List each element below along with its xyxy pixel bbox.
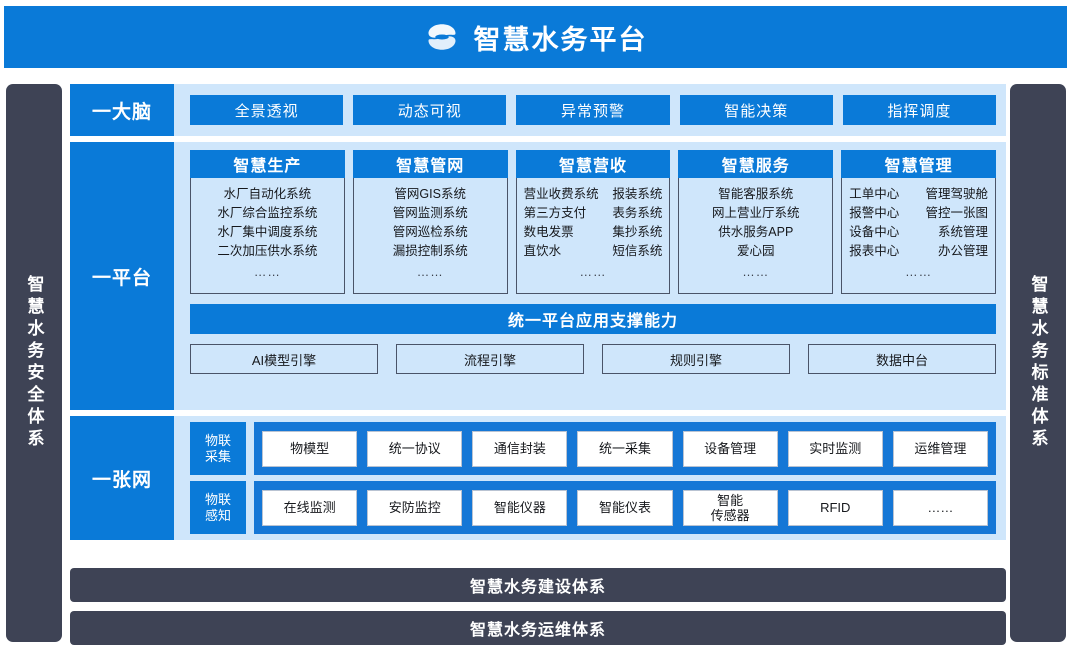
engine-chip-rule[interactable]: 规则引擎 — [602, 344, 790, 374]
network-line-iot-collection: 物联 采集 物模型 统一协议 通信封装 统一采集 设备管理 实时监测 运维管理 — [190, 422, 996, 475]
brain-stage-label-text: 一大脑 — [92, 97, 152, 124]
left-pillar-security-system: 智慧水务安全体系 — [6, 84, 62, 642]
brain-row: 一大脑 全景透视 动态可视 异常预警 智能决策 指挥调度 — [70, 84, 1006, 136]
engine-chip-process[interactable]: 流程引擎 — [396, 344, 584, 374]
network-body: 物联 采集 物模型 统一协议 通信封装 统一采集 设备管理 实时监测 运维管理 — [174, 416, 1006, 540]
panel-ellipsis: …… — [742, 263, 769, 282]
left-pillar-label: 智慧水务安全体系 — [26, 275, 43, 451]
panel-item: 设备中心 — [849, 223, 899, 242]
panel-title: 智慧管网 — [353, 150, 508, 178]
network-tag-line1: 物联 — [205, 433, 231, 448]
panel-item-row: 直饮水 短信系统 — [521, 242, 666, 261]
network-tag-line1: 物联 — [205, 492, 231, 507]
net-chip-thing-model[interactable]: 物模型 — [262, 431, 357, 467]
net-chip-ellipsis[interactable]: …… — [893, 490, 988, 526]
brain-chip-smart-decision[interactable]: 智能决策 — [680, 95, 833, 125]
panel-item: 管理驾驶舱 — [925, 185, 988, 204]
panel-item: 直饮水 — [524, 242, 562, 261]
panel-item: 水厂集中调度系统 — [217, 223, 317, 242]
panel-smart-pipe-network[interactable]: 智慧管网 管网GIS系统 管网监测系统 管网巡检系统 漏损控制系统 …… — [353, 150, 508, 294]
network-tag-iot-collection: 物联 采集 — [190, 422, 246, 475]
panel-smart-service[interactable]: 智慧服务 智能客服系统 网上营业厅系统 供水服务APP 爱心园 …… — [678, 150, 833, 294]
app-header: 智慧水务平台 — [4, 6, 1067, 68]
engine-chip-ai-model[interactable]: AI模型引擎 — [190, 344, 378, 374]
right-pillar-label: 智慧水务标准体系 — [1030, 275, 1047, 451]
panel-ellipsis: …… — [905, 263, 932, 282]
page-title: 智慧水务平台 — [474, 18, 648, 57]
net-chip-rfid[interactable]: RFID — [788, 490, 883, 526]
panel-item: 供水服务APP — [718, 223, 793, 242]
panel-item: 水厂自动化系统 — [224, 185, 312, 204]
panel-item: 报表中心 — [849, 242, 899, 261]
network-tag-iot-sensing: 物联 感知 — [190, 481, 246, 534]
brain-chip-command-dispatch[interactable]: 指挥调度 — [843, 95, 996, 125]
net-chip-device-management[interactable]: 设备管理 — [683, 431, 778, 467]
platform-body: 智慧生产 水厂自动化系统 水厂综合监控系统 水厂集中调度系统 二次加压供水系统 … — [174, 142, 1006, 410]
panel-item-row: 数电发票 集抄系统 — [521, 223, 666, 242]
panel-item-row: 报表中心 办公管理 — [846, 242, 991, 261]
panel-title: 智慧营收 — [516, 150, 671, 178]
platform-stage-label: 一平台 — [70, 142, 174, 410]
water-leaf-logo-icon — [424, 19, 460, 55]
panel-title: 智慧生产 — [190, 150, 345, 178]
panel-body: 水厂自动化系统 水厂综合监控系统 水厂集中调度系统 二次加压供水系统 …… — [190, 178, 345, 294]
brain-items: 全景透视 动态可视 异常预警 智能决策 指挥调度 — [174, 84, 1006, 136]
panel-body: 工单中心 管理驾驶舱 报警中心 管控一张图 设备中心 系统管理 报表中心 — [841, 178, 996, 294]
panel-item: 报警中心 — [849, 204, 899, 223]
net-chip-smart-meter[interactable]: 智能仪表 — [577, 490, 672, 526]
network-tag-line2: 采集 — [205, 449, 231, 464]
platform-stage-label-text: 一平台 — [92, 263, 152, 290]
panel-item: 管网巡检系统 — [393, 223, 468, 242]
brain-chip-panoramic[interactable]: 全景透视 — [190, 95, 343, 125]
panel-item-row: 设备中心 系统管理 — [846, 223, 991, 242]
panel-item-row: 营业收费系统 报装系统 — [521, 185, 666, 204]
platform-row: 一平台 智慧生产 水厂自动化系统 水厂综合监控系统 水厂集中调度系统 二次加压供… — [70, 142, 1006, 410]
panel-item: 智能客服系统 — [718, 185, 793, 204]
panel-item: 管网监测系统 — [393, 204, 468, 223]
engine-row: AI模型引擎 流程引擎 规则引擎 数据中台 — [190, 344, 996, 374]
panel-item: 短信系统 — [612, 242, 662, 261]
brain-chip-anomaly-alert[interactable]: 异常预警 — [516, 95, 669, 125]
panel-item-row: 工单中心 管理驾驶舱 — [846, 185, 991, 204]
panel-body: 营业收费系统 报装系统 第三方支付 表务系统 数电发票 集抄系统 直饮水 — [516, 178, 671, 294]
panel-smart-production[interactable]: 智慧生产 水厂自动化系统 水厂综合监控系统 水厂集中调度系统 二次加压供水系统 … — [190, 150, 345, 294]
network-strip: 在线监测 安防监控 智能仪器 智能仪表 智能传感器 RFID …… — [254, 481, 996, 534]
network-row: 一张网 物联 采集 物模型 统一协议 通信封装 统一采集 设备管理 实时监测 — [70, 416, 1006, 540]
network-stage-label-text: 一张网 — [92, 465, 152, 492]
right-pillar-standard-system: 智慧水务标准体系 — [1010, 84, 1066, 642]
panel-body: 智能客服系统 网上营业厅系统 供水服务APP 爱心园 …… — [678, 178, 833, 294]
panel-item: 报装系统 — [612, 185, 662, 204]
panel-item-row: 报警中心 管控一张图 — [846, 204, 991, 223]
panel-ellipsis: …… — [579, 263, 606, 282]
panel-item: 表务系统 — [612, 204, 662, 223]
panel-item: 管控一张图 — [925, 204, 988, 223]
net-chip-online-monitoring[interactable]: 在线监测 — [262, 490, 357, 526]
panel-item: 管网GIS系统 — [394, 185, 466, 204]
panel-ellipsis: …… — [254, 263, 281, 282]
platform-panels: 智慧生产 水厂自动化系统 水厂综合监控系统 水厂集中调度系统 二次加压供水系统 … — [190, 150, 996, 294]
panel-item: 爱心园 — [737, 242, 775, 261]
bottom-bar-construction-system: 智慧水务建设体系 — [70, 568, 1006, 602]
panel-item: 工单中心 — [849, 185, 899, 204]
panel-smart-management[interactable]: 智慧管理 工单中心 管理驾驶舱 报警中心 管控一张图 设备中心 系统管理 — [841, 150, 996, 294]
main-content: 一大脑 全景透视 动态可视 异常预警 智能决策 指挥调度 一平台 智慧生产 水厂… — [70, 80, 1006, 646]
panel-item-row: 第三方支付 表务系统 — [521, 204, 666, 223]
panel-item: 漏损控制系统 — [393, 242, 468, 261]
panel-item: 二次加压供水系统 — [217, 242, 317, 261]
panel-item: 系统管理 — [938, 223, 988, 242]
network-stage-label: 一张网 — [70, 416, 174, 540]
net-chip-ops-management[interactable]: 运维管理 — [893, 431, 988, 467]
net-chip-unified-protocol[interactable]: 统一协议 — [367, 431, 462, 467]
panel-smart-revenue[interactable]: 智慧营收 营业收费系统 报装系统 第三方支付 表务系统 数电发票 集抄系统 — [516, 150, 671, 294]
bottom-bar-ops-system: 智慧水务运维体系 — [70, 611, 1006, 645]
brain-chip-dynamic-visual[interactable]: 动态可视 — [353, 95, 506, 125]
panel-item: 网上营业厅系统 — [712, 204, 800, 223]
panel-item: 集抄系统 — [612, 223, 662, 242]
net-chip-realtime-monitoring[interactable]: 实时监测 — [788, 431, 883, 467]
net-chip-smart-sensor[interactable]: 智能传感器 — [683, 490, 778, 526]
unified-platform-support-bar: 统一平台应用支撑能力 — [190, 304, 996, 334]
panel-body: 管网GIS系统 管网监测系统 管网巡检系统 漏损控制系统 …… — [353, 178, 508, 294]
net-chip-unified-collection[interactable]: 统一采集 — [577, 431, 672, 467]
panel-item: 办公管理 — [938, 242, 988, 261]
panel-item: 水厂综合监控系统 — [217, 204, 317, 223]
network-strip: 物模型 统一协议 通信封装 统一采集 设备管理 实时监测 运维管理 — [254, 422, 996, 475]
net-chip-security-surveillance[interactable]: 安防监控 — [367, 490, 462, 526]
network-tag-line2: 感知 — [205, 508, 231, 523]
network-line-iot-sensing: 物联 感知 在线监测 安防监控 智能仪器 智能仪表 智能传感器 RFID …… — [190, 481, 996, 534]
brain-stage-label: 一大脑 — [70, 84, 174, 136]
engine-chip-data-midend[interactable]: 数据中台 — [808, 344, 996, 374]
panel-item: 数电发票 — [524, 223, 574, 242]
net-chip-smart-instrument[interactable]: 智能仪器 — [472, 490, 567, 526]
panel-title: 智慧服务 — [678, 150, 833, 178]
panel-item: 营业收费系统 — [524, 185, 599, 204]
net-chip-comm-encapsulation[interactable]: 通信封装 — [472, 431, 567, 467]
panel-item: 第三方支付 — [524, 204, 587, 223]
panel-title: 智慧管理 — [841, 150, 996, 178]
panel-ellipsis: …… — [417, 263, 444, 282]
